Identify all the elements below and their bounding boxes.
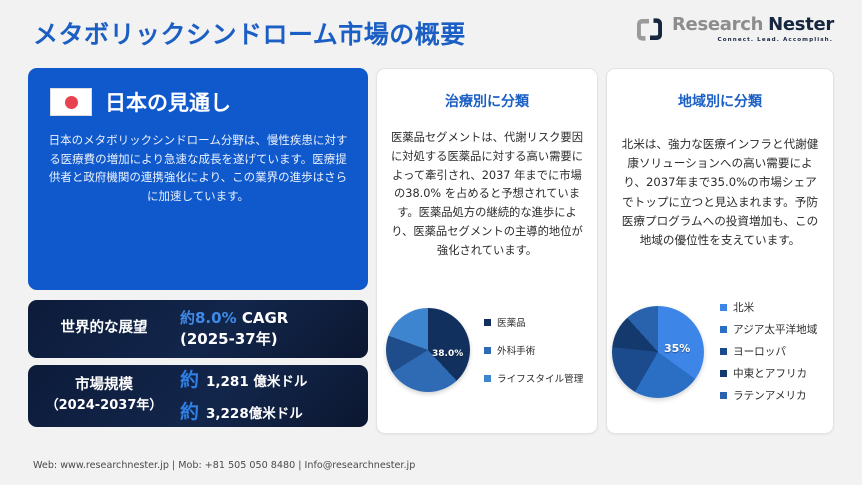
legend-item: ラテンアメリカ — [720, 388, 817, 403]
japan-card-body: 日本のメタボリックシンドローム分野は、慢性疾患に対する医療費の増加により急速な成… — [28, 117, 368, 206]
amount-value: 3,228億米ドル — [206, 405, 303, 424]
region-card-title: 地域別に分類 — [607, 69, 833, 111]
legend-label: アジア太平洋地域 — [733, 322, 817, 337]
stat-market-amount-2024: 約 1,281 億米ドル — [180, 367, 368, 394]
legend-item: ヨーロッパ — [720, 344, 817, 359]
treatment-card-body: 医薬品セグメントは、代謝リスク要因に対処する医薬品に対する高い需要によって牽引さ… — [377, 111, 597, 260]
stat-global-main: CAGR — [237, 309, 289, 327]
logo-mark-icon — [634, 16, 665, 43]
treatment-card-title: 治療別に分類 — [377, 69, 597, 111]
stat-market-label: 市場規模 （2024-2037年） — [28, 376, 180, 415]
footer-contact: Web: www.researchnester.jp | Mob: +81 50… — [33, 460, 415, 471]
treatment-pie-data-label: 38.0% — [432, 349, 463, 359]
logo-wordmark: Research Nester Connect. Lead. Accomplis… — [672, 16, 834, 44]
approx-symbol: 約 — [180, 399, 199, 426]
legend-item: 中東とアフリカ — [720, 366, 817, 381]
legend-label: 医薬品 — [497, 315, 526, 329]
japan-card-title: 日本の見通し — [105, 87, 231, 117]
region-card-body: 北米は、強力な医療インフラと代謝健康ソリューションへの高い需要により、2037年… — [607, 111, 833, 250]
legend-swatch-icon — [720, 370, 727, 377]
approx-symbol: 約 — [180, 367, 199, 394]
legend-label: ライフスタイル管理 — [497, 371, 583, 385]
stat-global-outlook: 世界的な展望 約8.0% CAGR (2025-37年) — [28, 300, 368, 358]
legend-label: 中東とアフリカ — [733, 366, 807, 381]
legend-label: ヨーロッパ — [733, 344, 786, 359]
treatment-pie-chart: 38.0% 医薬品 外科手術 ライフスタイル管理 — [386, 308, 592, 392]
legend-item: アジア太平洋地域 — [720, 322, 817, 337]
region-pie-chart: 35% 北米 アジア太平洋地域 ヨーロッパ 中東とアフリカ ラテンアメリカ — [612, 300, 830, 403]
region-pie-data-label: 35% — [664, 342, 690, 355]
legend-item: 北米 — [720, 300, 817, 315]
amount-value: 1,281 億米ドル — [206, 373, 307, 392]
infographic-page: メタボリックシンドローム市場の概要 Research Nester Connec… — [0, 0, 862, 485]
stat-market-label-line1: 市場規模 — [75, 377, 133, 393]
stat-global-value: 約8.0% CAGR (2025-37年) — [180, 308, 368, 350]
legend-item: 外科手術 — [484, 343, 583, 357]
flag-sun-shape — [65, 96, 78, 109]
brand-logo: Research Nester Connect. Lead. Accomplis… — [634, 16, 834, 44]
legend-item: ライフスタイル管理 — [484, 371, 583, 385]
japan-outlook-card: 日本の見通し 日本のメタボリックシンドローム分野は、慢性疾患に対する医療費の増加… — [28, 68, 368, 290]
treatment-pie-wrap: 38.0% — [386, 308, 470, 392]
japan-flag-icon — [50, 88, 92, 116]
legend-item: 医薬品 — [484, 315, 583, 329]
logo-secondary-text: Nester — [768, 16, 834, 34]
page-header: メタボリックシンドローム市場の概要 Research Nester Connec… — [0, 0, 862, 58]
stat-market-values: 約 1,281 億米ドル 約 3,228億米ドル — [180, 367, 368, 425]
region-legend: 北米 アジア太平洋地域 ヨーロッパ 中東とアフリカ ラテンアメリカ — [720, 300, 817, 403]
logo-tagline: Connect. Lead. Accomplish. — [718, 38, 834, 44]
legend-label: ラテンアメリカ — [733, 388, 807, 403]
stat-market-amount-2037: 約 3,228億米ドル — [180, 399, 368, 426]
legend-swatch-icon — [484, 375, 491, 382]
stat-global-accent: 約8.0% — [180, 309, 237, 327]
legend-swatch-icon — [484, 319, 491, 326]
legend-label: 外科手術 — [497, 343, 535, 357]
legend-swatch-icon — [720, 348, 727, 355]
stat-market-size: 市場規模 （2024-2037年） 約 1,281 億米ドル 約 3,228億米… — [28, 365, 368, 427]
legend-swatch-icon — [720, 326, 727, 333]
stat-global-period: (2025-37年) — [180, 329, 368, 350]
legend-swatch-icon — [484, 347, 491, 354]
logo-primary-text: Research — [672, 16, 763, 34]
legend-swatch-icon — [720, 392, 727, 399]
legend-label: 北米 — [733, 300, 754, 315]
page-title: メタボリックシンドローム市場の概要 — [33, 15, 466, 51]
stat-global-label: 世界的な展望 — [28, 319, 180, 339]
legend-swatch-icon — [720, 304, 727, 311]
region-pie-wrap: 35% — [612, 306, 704, 398]
stat-market-label-line2: （2024-2037年） — [46, 398, 163, 413]
treatment-legend: 医薬品 外科手術 ライフスタイル管理 — [484, 315, 583, 385]
japan-card-header: 日本の見通し — [28, 68, 368, 117]
